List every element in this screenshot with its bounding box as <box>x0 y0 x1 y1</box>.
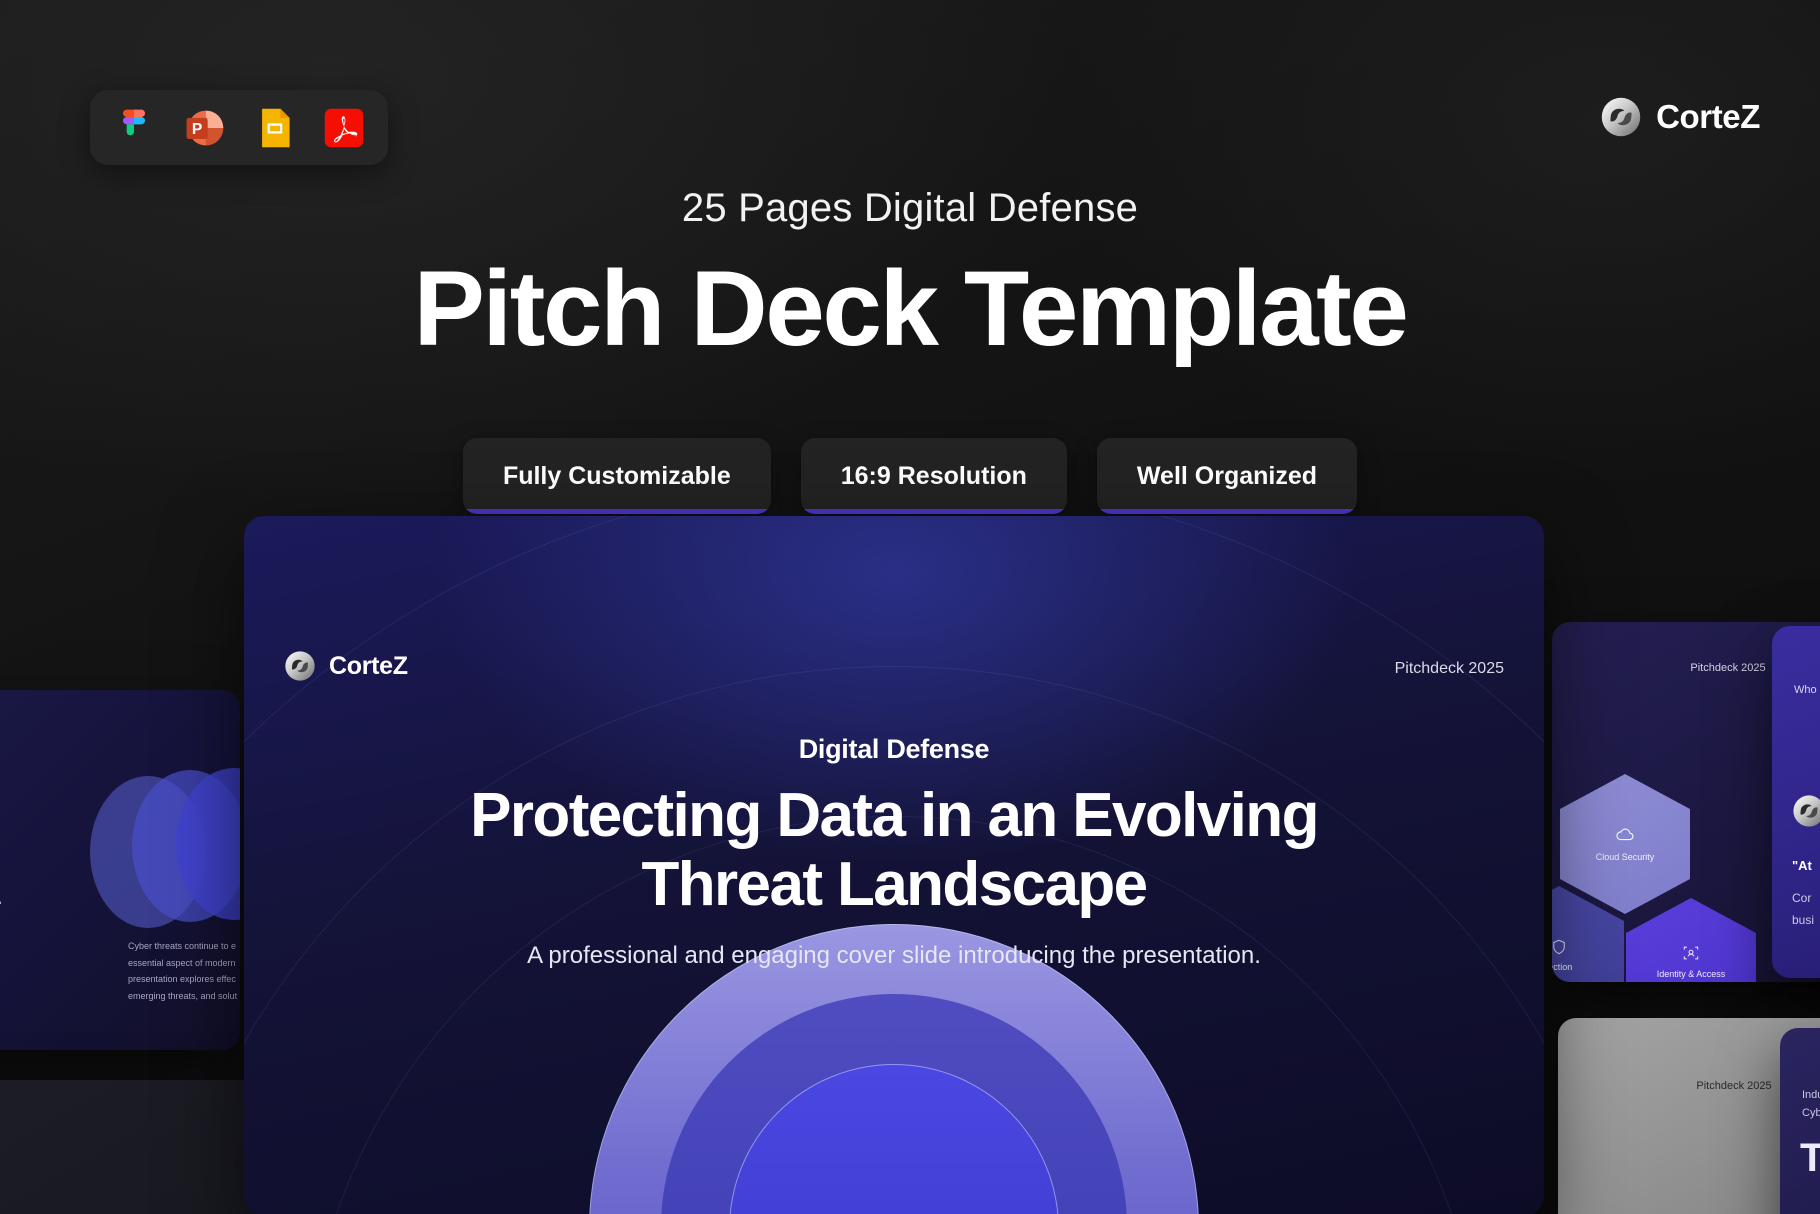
slide-preview-purple[interactable]: Who "At Cor busi <box>1772 626 1820 978</box>
powerpoint-icon[interactable]: P <box>182 106 226 150</box>
brand-logo-top[interactable]: CorteZ <box>1600 96 1760 138</box>
hero-eyebrow: 25 Pages Digital Defense <box>0 186 1820 231</box>
shield-icon <box>1552 938 1568 956</box>
feature-badges: Fully Customizable 16:9 Resolution Well … <box>0 438 1820 514</box>
main-slide-kicker: Digital Defense <box>244 734 1544 765</box>
purple-slide-tag: Who <box>1794 684 1817 696</box>
cortez-mark-icon <box>284 650 316 682</box>
cortez-mark-icon <box>1792 794 1820 828</box>
hexagon-label: Cloud Security <box>1590 851 1661 863</box>
page-root: P CorteZ <box>0 0 1820 1214</box>
hexagon-label: tection <box>1552 961 1578 973</box>
main-slide-wordmark: CorteZ <box>329 652 408 681</box>
left-slide-heading: ffect of a be company. ore than a <box>0 726 226 918</box>
page-title: Pitch Deck Template <box>0 253 1820 364</box>
main-slide-title: Protecting Data in an Evolving Threat La… <box>244 781 1544 920</box>
app-format-pill: P <box>90 90 388 165</box>
feature-label: Fully Customizable <box>503 462 731 491</box>
feature-badge-resolution[interactable]: 16:9 Resolution <box>801 438 1067 514</box>
purple-slide-quote: "At <box>1792 858 1812 873</box>
main-slide-subtitle: A professional and engaging cover slide … <box>244 942 1544 970</box>
hexagon-identity-access[interactable]: Identity & Access Management <box>1626 898 1756 982</box>
scan-icon <box>1681 943 1701 963</box>
google-slides-icon[interactable] <box>252 106 296 150</box>
main-slide-content: Digital Defense Protecting Data in an Ev… <box>244 734 1544 970</box>
cortez-mark-icon <box>1600 96 1642 138</box>
hero-section: 25 Pages Digital Defense Pitch Deck Temp… <box>0 186 1820 364</box>
brand-wordmark: CorteZ <box>1656 98 1760 136</box>
adobe-pdf-icon[interactable] <box>322 106 366 150</box>
purple-slide-body: Cor busi <box>1792 888 1814 931</box>
navy-slide-title: Ta <box>1800 1136 1820 1181</box>
feature-badge-customizable[interactable]: Fully Customizable <box>463 438 771 514</box>
svg-text:P: P <box>192 120 202 137</box>
feature-label: Well Organized <box>1137 462 1317 491</box>
slide-preview-main[interactable]: CorteZ Pitchdeck 2025 Digital Defense Pr… <box>244 516 1544 1214</box>
feature-label: 16:9 Resolution <box>841 462 1027 491</box>
main-slide-tag: Pitchdeck 2025 <box>1395 660 1504 678</box>
slide-preview-left[interactable]: ffect of a be company. ore than a Cyber … <box>0 690 240 1050</box>
main-slide-brand: CorteZ <box>284 650 408 682</box>
figma-icon[interactable] <box>112 106 156 150</box>
navy-slide-kicker: Indu Cybe <box>1802 1086 1820 1122</box>
cloud-icon <box>1614 824 1636 846</box>
slide-preview-navy[interactable]: Indu Cybe Ta <box>1780 1028 1820 1214</box>
hexagon-cloud-security[interactable]: Cloud Security <box>1560 774 1690 914</box>
left-slide-body: Cyber threats continue to e essential as… <box>128 938 240 1005</box>
feature-badge-organized[interactable]: Well Organized <box>1097 438 1357 514</box>
hexagon-label: Identity & Access Management <box>1626 968 1756 982</box>
slide-deck: ffect of a be company. ore than a Cyber … <box>0 560 1820 1214</box>
